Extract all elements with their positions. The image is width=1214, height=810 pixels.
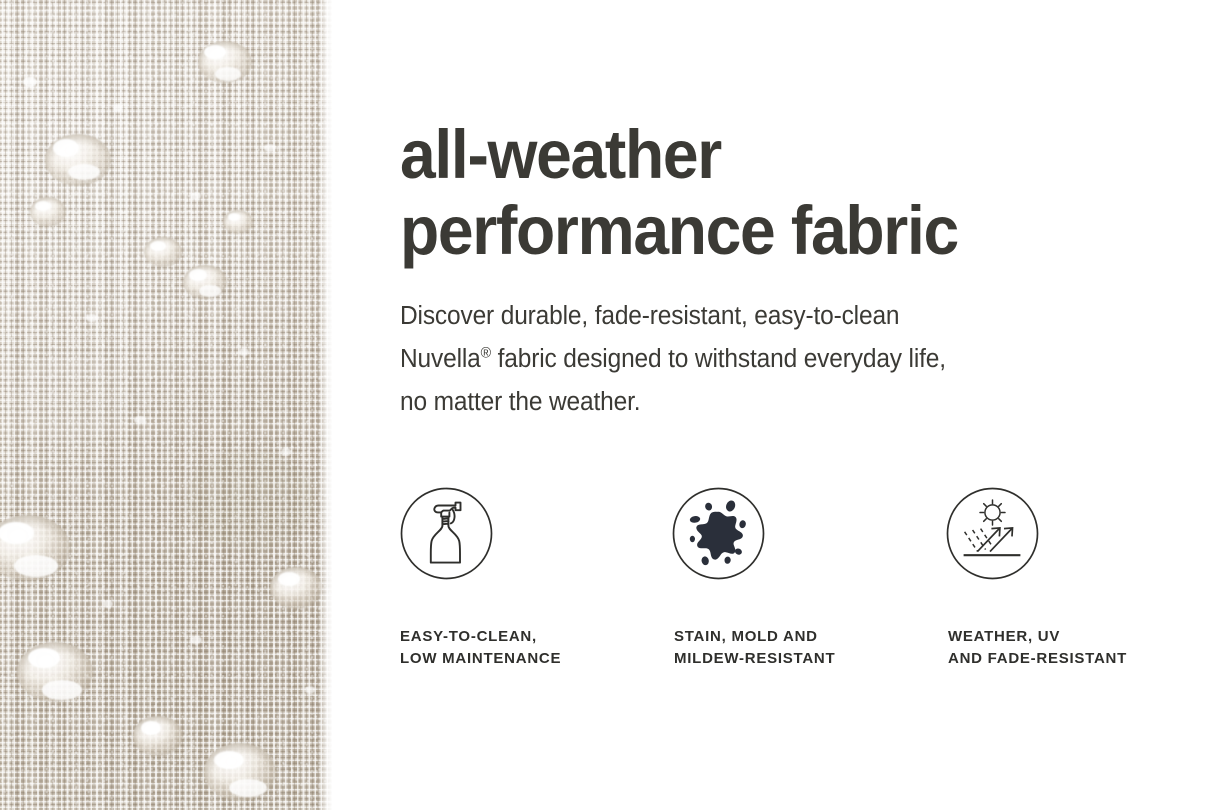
- feature-weather-uv-resistant: WEATHER, UV AND FADE-RESISTANT: [946, 487, 1127, 670]
- brand-name: Nuvella: [400, 345, 481, 373]
- feature-label: EASY-TO-CLEAN, LOW MAINTENANCE: [400, 580, 561, 670]
- subcopy-line-1: Discover durable, fade-resistant, easy-t…: [400, 302, 899, 330]
- subcopy-line-2: fabric designed to withstand everyday li…: [491, 345, 946, 373]
- content-column: all-weather performance fabric Discover …: [333, 0, 1214, 810]
- feature-label: STAIN, MOLD AND MILDEW-RESISTANT: [672, 580, 835, 670]
- subcopy-paragraph: Discover durable, fade-resistant, easy-t…: [400, 295, 1130, 424]
- feature-list: EASY-TO-CLEAN, LOW MAINTENANCE: [333, 487, 1214, 697]
- sun-uv-reflect-icon: [946, 487, 1039, 580]
- photo-edge-fade: [317, 0, 333, 810]
- page-title: all-weather performance fabric: [400, 117, 1135, 269]
- registered-trademark-mark: ®: [481, 346, 491, 362]
- feature-stain-resistant: STAIN, MOLD AND MILDEW-RESISTANT: [672, 487, 835, 670]
- promo-banner: all-weather performance fabric Discover …: [0, 0, 1214, 810]
- fabric-water-beads-photo: [0, 0, 333, 810]
- subcopy-line-3: no matter the weather.: [400, 388, 640, 416]
- stain-splat-icon: [672, 487, 765, 580]
- feature-easy-to-clean: EASY-TO-CLEAN, LOW MAINTENANCE: [400, 487, 561, 670]
- spray-bottle-icon: [400, 487, 493, 580]
- feature-label: WEATHER, UV AND FADE-RESISTANT: [946, 580, 1127, 670]
- water-droplets-overlay: [0, 0, 333, 810]
